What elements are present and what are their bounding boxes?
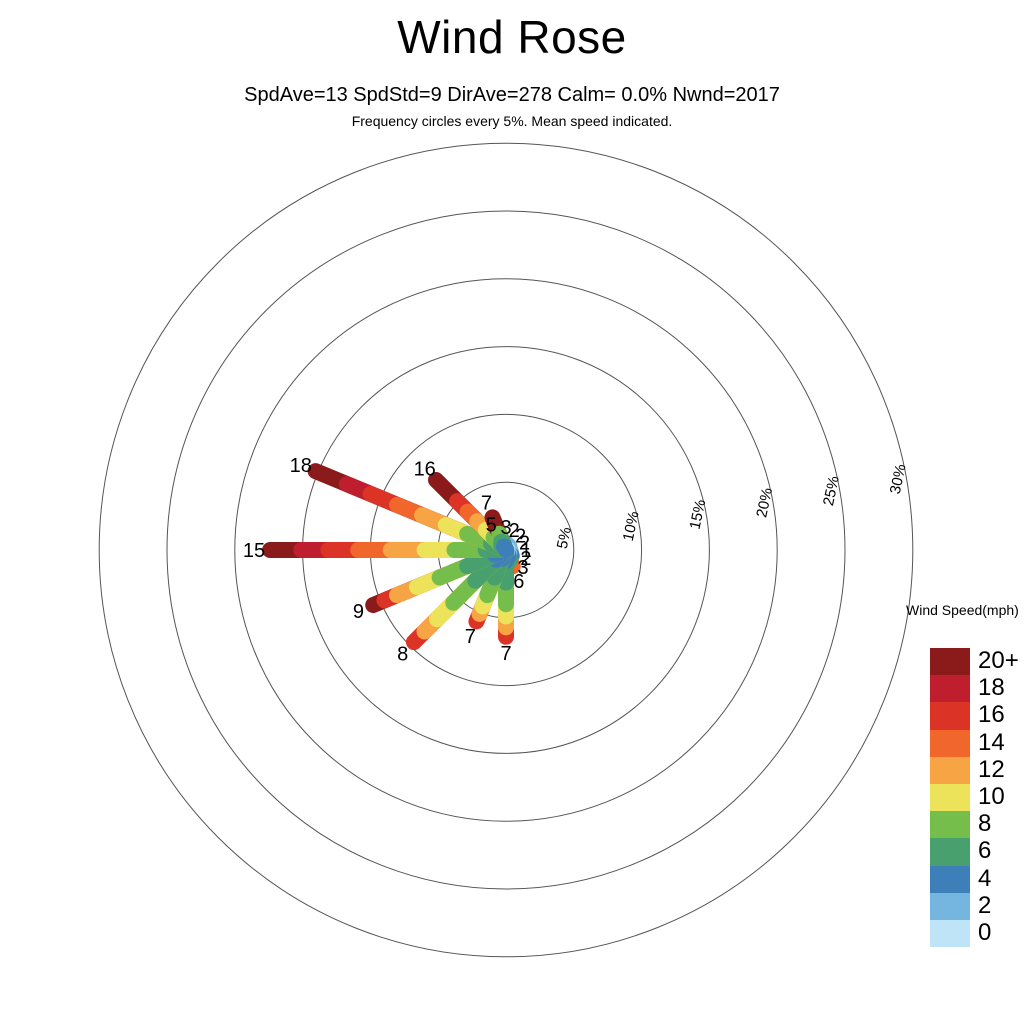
legend-label: 8 (978, 810, 991, 838)
legend-label: 16 (978, 701, 1005, 729)
ring-label: 5% (554, 526, 575, 551)
petal-mean-speed-label: 5 (486, 514, 497, 536)
petal-mean-speed-label: 18 (290, 455, 312, 477)
legend-label: 6 (978, 837, 991, 865)
legend-swatch (930, 702, 970, 729)
legend-swatch (930, 675, 970, 702)
legend-swatch (930, 811, 970, 838)
ring-label: 30% (887, 463, 910, 496)
legend: 20+181614121086420 (930, 648, 970, 947)
legend-title: Wind Speed(mph) (906, 602, 1019, 618)
legend-label: 2 (978, 892, 991, 920)
legend-row: 10 (930, 784, 970, 811)
ring-label: 20% (753, 486, 776, 519)
legend-row: 2 (930, 893, 970, 920)
petal-segment (504, 546, 506, 550)
legend-swatch (930, 920, 970, 947)
legend-row: 6 (930, 838, 970, 865)
legend-label: 14 (978, 729, 1005, 757)
legend-row: 18 (930, 675, 970, 702)
petal-mean-speed-label: 15 (243, 540, 265, 562)
legend-swatch (930, 866, 970, 893)
petal-mean-speed-label: 9 (353, 601, 364, 623)
ring-label: 25% (820, 474, 843, 507)
petal-mean-speed-label: 7 (465, 626, 476, 648)
wind-rose-plot: 5%10%15%20%25%30% 32221236778915181675 (0, 0, 1024, 1024)
legend-row: 4 (930, 866, 970, 893)
ring-label: 15% (687, 498, 710, 531)
legend-swatch (930, 893, 970, 920)
legend-row: 0 (930, 920, 970, 947)
legend-label: 10 (978, 783, 1005, 811)
petal-mean-speed-label: 7 (500, 643, 511, 665)
legend-row: 14 (930, 730, 970, 757)
petal-mean-speed-label: 16 (414, 459, 436, 481)
ring-labels: 5%10%15%20%25%30% (554, 463, 910, 551)
legend-row: 8 (930, 811, 970, 838)
legend-label: 20+ (978, 647, 1019, 675)
wind-petals (270, 471, 513, 642)
legend-label: 18 (978, 674, 1005, 702)
legend-swatch (930, 730, 970, 757)
legend-label: 12 (978, 756, 1005, 784)
legend-row: 20+ (930, 648, 970, 675)
legend-label: 0 (978, 919, 991, 947)
ring-label: 10% (620, 510, 643, 543)
legend-swatch (930, 784, 970, 811)
legend-swatch (930, 838, 970, 865)
legend-row: 16 (930, 702, 970, 729)
petal-mean-speed-label: 6 (513, 571, 524, 593)
petal-mean-speed-label: 8 (397, 643, 408, 665)
legend-label: 4 (978, 865, 991, 893)
legend-row: 12 (930, 757, 970, 784)
legend-swatch (930, 648, 970, 675)
legend-swatch (930, 757, 970, 784)
petal-mean-speed-label: 7 (481, 493, 492, 515)
